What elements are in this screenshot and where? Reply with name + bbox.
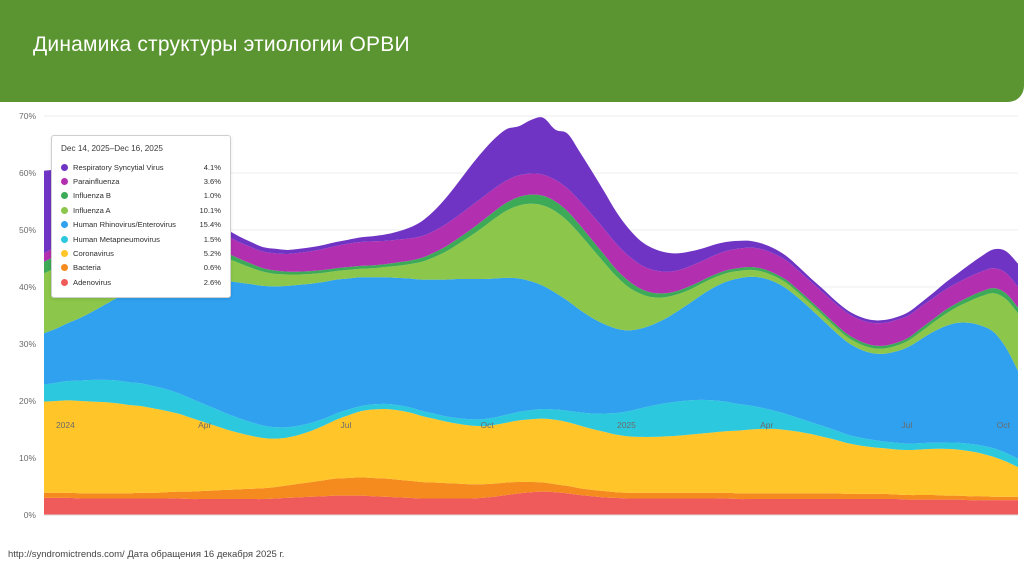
series-label: Influenza A: [73, 206, 194, 215]
series-label: Influenza B: [73, 191, 199, 200]
x-axis-tick-label: 2025: [596, 420, 656, 430]
series-color-swatch-icon: [61, 221, 68, 228]
y-axis-tick-label: 30%: [2, 339, 36, 349]
tooltip-row: Influenza A10.1%: [61, 203, 221, 217]
x-axis-tick-label: Jul: [316, 420, 376, 430]
series-color-swatch-icon: [61, 207, 68, 214]
series-label: Bacteria: [73, 263, 199, 272]
series-value: 1.5%: [199, 235, 221, 244]
series-value: 15.4%: [194, 220, 221, 229]
tooltip-row: Bacteria0.6%: [61, 261, 221, 275]
y-axis-tick-label: 60%: [2, 168, 36, 178]
slide-root: Динамика структуры этиологии ОРВИ 0%10%2…: [0, 0, 1024, 574]
header-band: Динамика структуры этиологии ОРВИ: [0, 0, 1024, 102]
series-value: 3.6%: [199, 177, 221, 186]
series-color-swatch-icon: [61, 264, 68, 271]
x-axis-tick-label: Apr: [737, 420, 797, 430]
tooltip-row: Human Metapneumovirus1.5%: [61, 232, 221, 246]
series-value: 2.6%: [199, 278, 221, 287]
tooltip-series-list: Respiratory Syncytial Virus4.1%Parainflu…: [61, 160, 221, 290]
series-label: Human Rhinovirus/Enterovirus: [73, 220, 194, 229]
series-color-swatch-icon: [61, 178, 68, 185]
chart-tooltip[interactable]: Dec 14, 2025–Dec 16, 2025 Respiratory Sy…: [51, 135, 231, 298]
tooltip-row: Human Rhinovirus/Enterovirus15.4%: [61, 218, 221, 232]
tooltip-row: Adenovirus2.6%: [61, 275, 221, 289]
series-value: 1.0%: [199, 191, 221, 200]
y-axis-tick-label: 50%: [2, 225, 36, 235]
page-title: Динамика структуры этиологии ОРВИ: [33, 33, 410, 57]
series-value: 4.1%: [199, 163, 221, 172]
tooltip-row: Coronavirus5.2%: [61, 246, 221, 260]
series-label: Human Metapneumovirus: [73, 235, 199, 244]
series-color-swatch-icon: [61, 279, 68, 286]
series-value: 10.1%: [194, 206, 221, 215]
series-label: Adenovirus: [73, 278, 199, 287]
series-color-swatch-icon: [61, 236, 68, 243]
tooltip-date-range: Dec 14, 2025–Dec 16, 2025: [61, 144, 221, 153]
series-label: Respiratory Syncytial Virus: [73, 163, 199, 172]
series-label: Parainfluenza: [73, 177, 199, 186]
x-axis-tick-label: Jul: [877, 420, 937, 430]
y-axis-tick-label: 20%: [2, 396, 36, 406]
tooltip-row: Influenza B1.0%: [61, 189, 221, 203]
series-color-swatch-icon: [61, 164, 68, 171]
x-axis-tick-label: 2024: [35, 420, 95, 430]
y-axis-tick-label: 70%: [2, 111, 36, 121]
series-label: Coronavirus: [73, 249, 199, 258]
x-axis-tick-label: Oct: [973, 420, 1024, 430]
y-axis-tick-label: 10%: [2, 453, 36, 463]
tooltip-row: Respiratory Syncytial Virus4.1%: [61, 160, 221, 174]
series-color-swatch-icon: [61, 250, 68, 257]
x-axis-tick-label: Oct: [457, 420, 517, 430]
series-value: 5.2%: [199, 249, 221, 258]
y-axis-tick-label: 40%: [2, 282, 36, 292]
y-axis-tick-label: 0%: [2, 510, 36, 520]
series-color-swatch-icon: [61, 192, 68, 199]
series-value: 0.6%: [199, 263, 221, 272]
tooltip-row: Parainfluenza3.6%: [61, 174, 221, 188]
x-axis-tick-label: Apr: [175, 420, 235, 430]
source-note: http://syndromictrends.com/ Дата обращен…: [8, 549, 284, 560]
